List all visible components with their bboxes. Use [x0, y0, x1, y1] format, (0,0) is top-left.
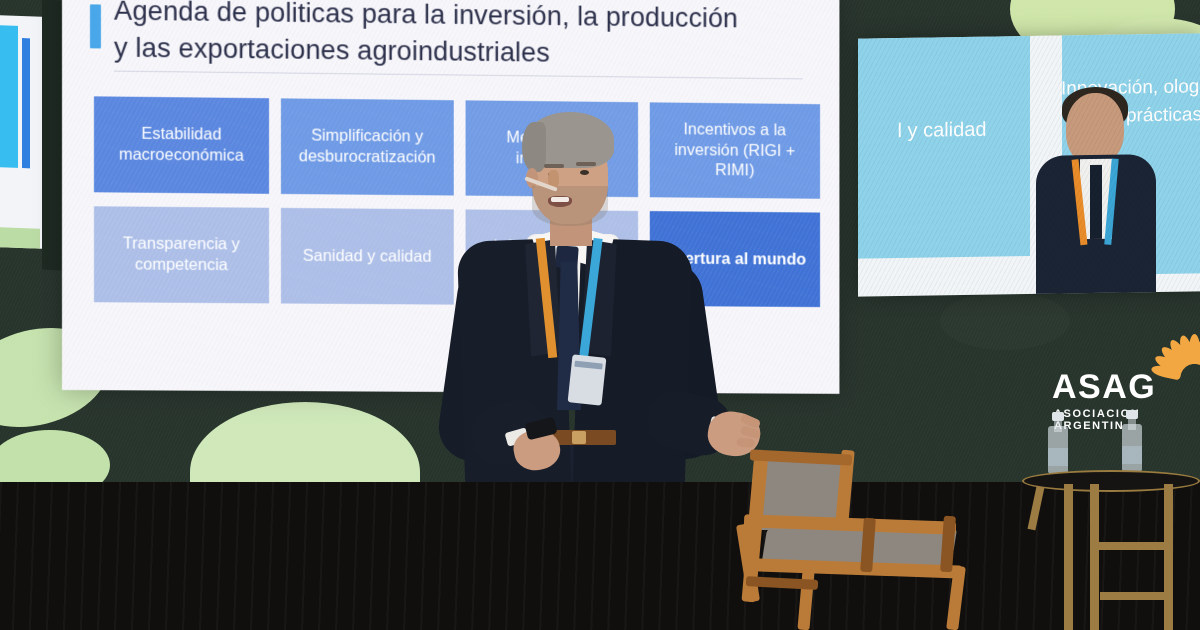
table-top — [1022, 470, 1200, 492]
policy-cell-1-label: Estabilidad macroeconómica — [104, 124, 259, 167]
policy-cell-5-label: Transparencia y competencia — [104, 234, 259, 277]
secondary-screen-band-left — [858, 33, 1030, 258]
speaker-eye — [580, 170, 589, 175]
mini-speaker-tie — [1090, 165, 1102, 239]
speaker-hair-side — [522, 122, 546, 172]
slide-title: Agenda de politicas para la inversión, l… — [114, 0, 803, 74]
speaker-beard — [532, 186, 608, 226]
table-leg — [1164, 484, 1173, 630]
policy-cell-6: Sanidad y calidad — [280, 208, 453, 305]
logo-name: ASAG — [1052, 368, 1156, 407]
left-screen-blue-band — [22, 38, 30, 168]
table-rung — [1100, 592, 1172, 600]
chair-arm-support — [940, 516, 956, 573]
secondary-screen-left-text: l y calidad — [858, 118, 1032, 144]
water-bottle — [1122, 410, 1142, 472]
speaker-eyebrow — [576, 162, 596, 166]
policy-cell-2: Simplificación y desburocratización — [280, 98, 453, 195]
water-bottle — [1048, 412, 1068, 474]
policy-cell-5: Transparencia y competencia — [94, 206, 269, 303]
table-rung — [1098, 542, 1168, 550]
secondary-screen-speaker — [1036, 92, 1156, 294]
policy-cell-2-label: Simplificación y desburocratización — [290, 126, 444, 169]
speaker-badge — [568, 354, 607, 405]
stage-skirt — [0, 482, 1200, 630]
secondary-screen: l y calidad Innovación, ología y bue prá… — [858, 33, 1200, 296]
armchair — [726, 452, 976, 630]
title-accent-bar — [90, 4, 101, 48]
table-leg — [1090, 484, 1099, 630]
left-edge-screen — [0, 15, 42, 249]
left-screen-green-shape — [0, 227, 40, 249]
left-screen-cyan-band — [0, 25, 18, 168]
table-leg — [1064, 484, 1073, 630]
policy-cell-6-label: Sanidad y calidad — [303, 246, 432, 268]
table-leg — [1028, 486, 1045, 531]
side-table — [1022, 470, 1200, 630]
screen-gap — [42, 0, 64, 271]
speaker-eyebrow — [544, 164, 564, 168]
stage-photo: Agenda de politicas para la inversión, l… — [0, 0, 1200, 630]
policy-cell-1: Estabilidad macroeconómica — [94, 96, 269, 193]
speaker-mouth — [548, 196, 572, 207]
